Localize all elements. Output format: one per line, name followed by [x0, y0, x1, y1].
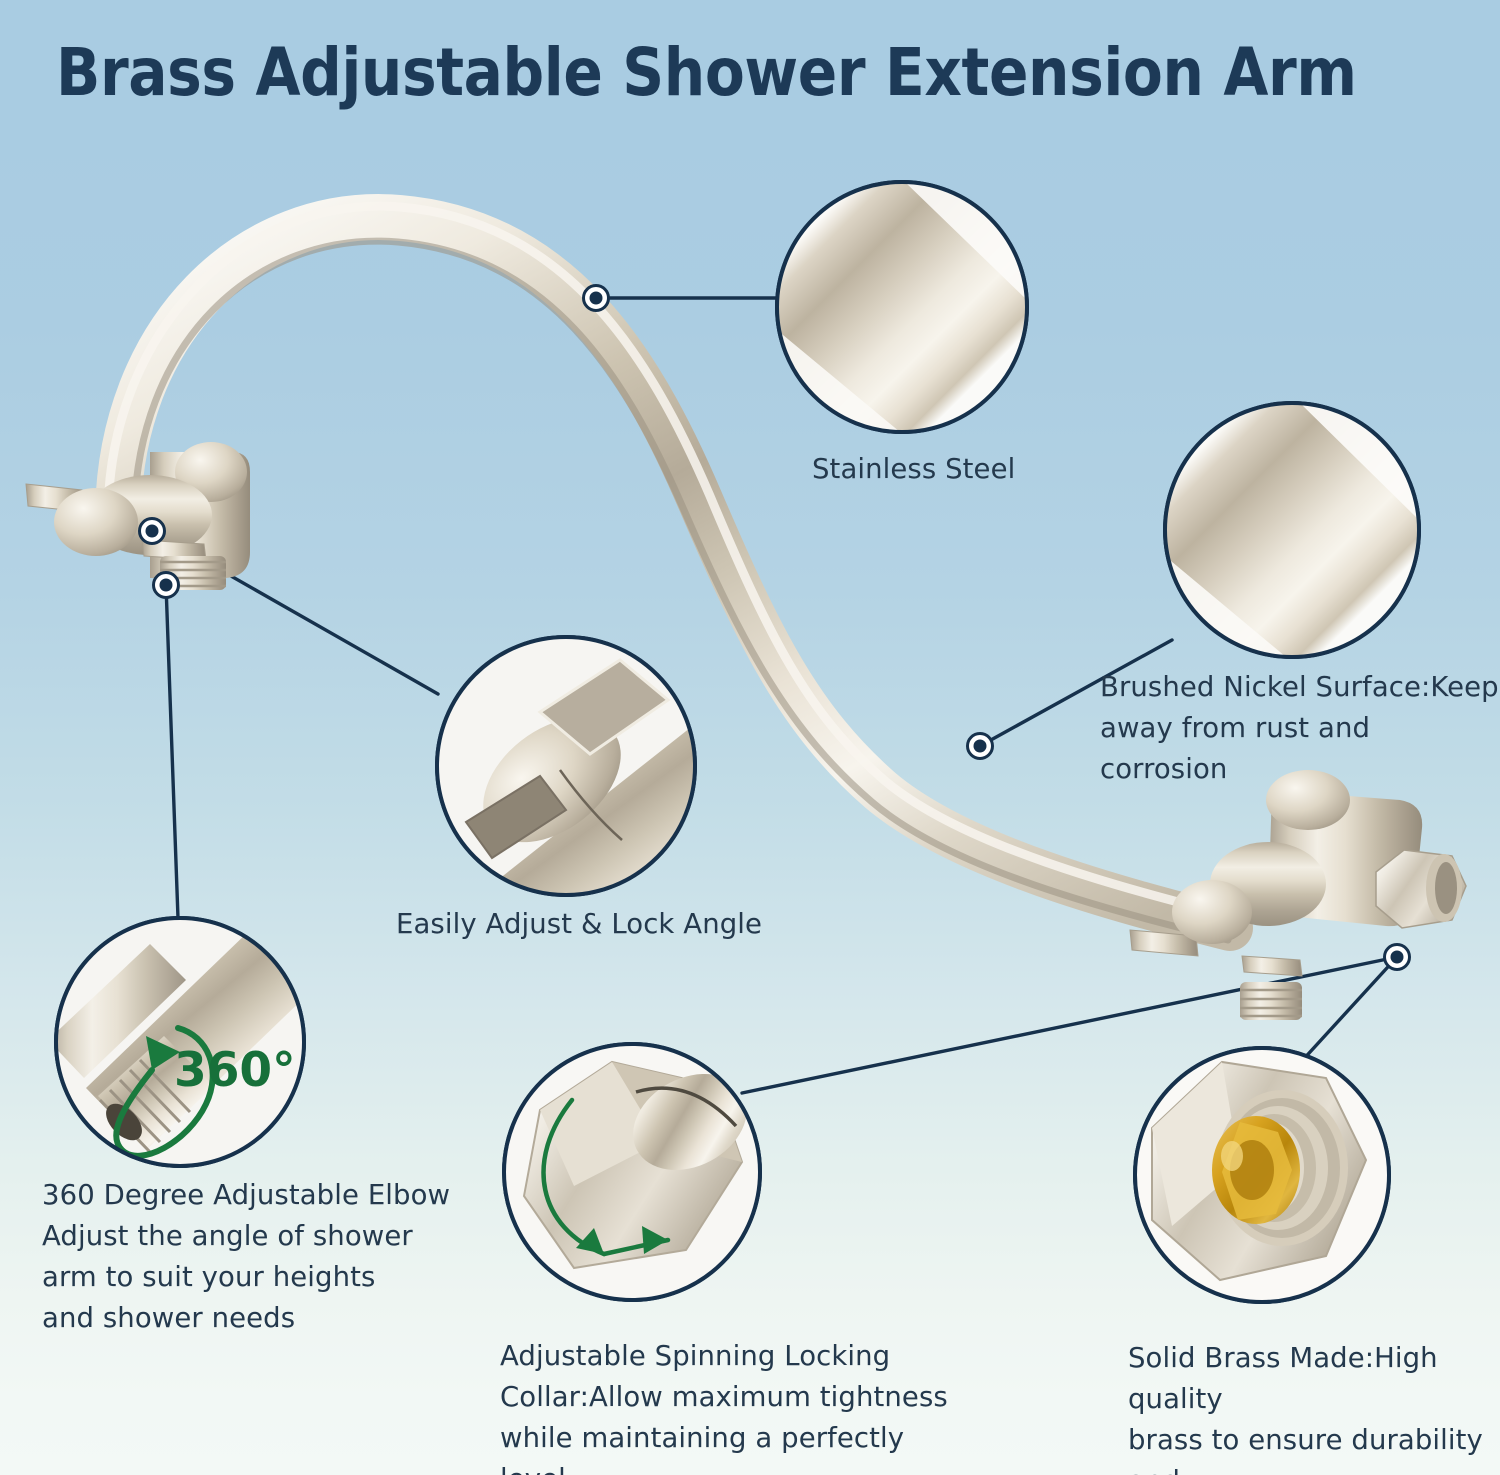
right-elbow-assembly [1130, 770, 1466, 1020]
marker-dot-stainless [584, 286, 609, 311]
marker-dot-elbow [154, 573, 179, 598]
caption-spinning-collar: Adjustable Spinning Locking Collar:Allow… [500, 1336, 970, 1475]
left-handle-hub [54, 488, 138, 556]
callout-adjustable-elbow: 360° [48, 918, 310, 1166]
marker-dot-right-outlet [1385, 945, 1410, 970]
right-handle-hub [1172, 880, 1252, 944]
product-infographic: Brass Adjustable Shower Extension Arm [0, 0, 1500, 1475]
caption-adjustable-elbow: 360 Degree Adjustable Elbow Adjust the a… [42, 1175, 472, 1339]
caption-solid-brass: Solid Brass Made:High quality brass to e… [1128, 1338, 1500, 1475]
caption-stainless-steel: Stainless Steel [812, 449, 1152, 490]
marker-dot-adjust [140, 519, 165, 544]
right-handle-arm-2 [1242, 956, 1302, 976]
caption-adjust-lock-angle: Easily Adjust & Lock Angle [396, 904, 816, 945]
right-hex-nut [1376, 850, 1466, 928]
marker-dot-nickel [968, 734, 993, 759]
callout-spinning-collar [504, 1044, 764, 1300]
rotation-label: 360° [174, 1043, 296, 1098]
callout-stainless-steel [777, 182, 1027, 432]
right-threaded-outlet [1240, 982, 1302, 1020]
caption-brushed-nickel: Brushed Nickel Surface:Keep away from ru… [1100, 667, 1500, 790]
leader-line-elbow [166, 585, 178, 918]
arm-tube-shadow [134, 241, 1228, 940]
callout-solid-brass [1135, 1048, 1389, 1302]
callout-brushed-nickel [1165, 403, 1419, 657]
